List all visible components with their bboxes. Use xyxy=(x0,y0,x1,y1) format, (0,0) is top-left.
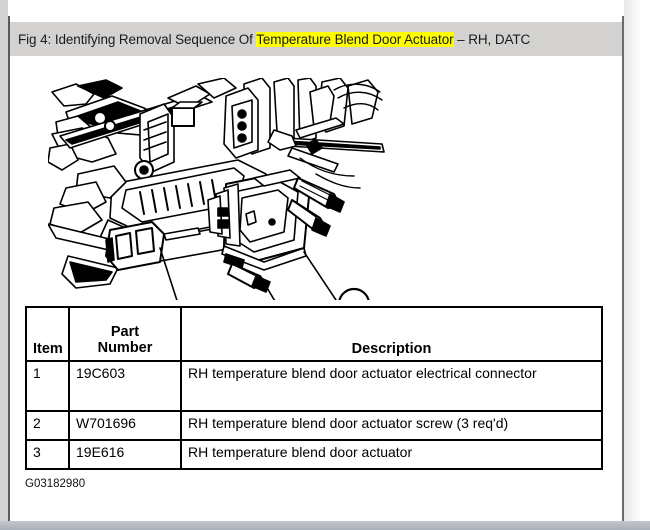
window-right-fade xyxy=(624,0,650,521)
column-header-part-line1: Part xyxy=(111,324,139,340)
cell-item: 1 xyxy=(26,361,69,411)
window-right-border xyxy=(622,16,624,521)
table-header-row: Item Part Number Description xyxy=(26,307,602,361)
callout-3: 3 xyxy=(339,289,369,300)
cell-item: 2 xyxy=(26,411,69,440)
window-left-gutter xyxy=(0,0,8,521)
cell-part-number: 19C603 xyxy=(69,361,181,411)
cell-description: RH temperature blend door actuator screw… xyxy=(181,411,602,440)
table-row: 1 19C603 RH temperature blend door actua… xyxy=(26,361,602,411)
screenshot-root: Fig 4: Identifying Removal Sequence Of T… xyxy=(0,0,650,530)
cell-part-number: 19E616 xyxy=(69,440,181,469)
window-top-gutter xyxy=(0,0,650,16)
document-viewport[interactable]: Fig 4: Identifying Removal Sequence Of T… xyxy=(10,16,622,521)
figure-id-label: G03182980 xyxy=(25,478,85,490)
column-header-part-line2: Number xyxy=(98,340,153,356)
cell-description: RH temperature blend door actuator xyxy=(181,440,602,469)
caption-highlight: Temperature Blend Door Actuator xyxy=(256,32,453,47)
callout-3-label: 3 xyxy=(350,297,358,300)
window-bottom-bar[interactable] xyxy=(0,521,650,530)
cell-part-number: W701696 xyxy=(69,411,181,440)
caption-suffix: – RH, DATC xyxy=(454,32,531,47)
figure-caption-bar: Fig 4: Identifying Removal Sequence Of T… xyxy=(10,22,622,56)
column-header-part-number: Part Number xyxy=(69,307,181,361)
technical-line-drawing: 1 2 3 xyxy=(48,78,388,300)
caption-prefix: Fig 4: Identifying Removal Sequence Of xyxy=(18,32,256,47)
figure-caption: Fig 4: Identifying Removal Sequence Of T… xyxy=(10,32,530,47)
cell-item: 3 xyxy=(26,440,69,469)
cell-description: RH temperature blend door actuator elect… xyxy=(181,361,602,411)
column-header-item: Item xyxy=(26,307,69,361)
figure-area: 1 2 3 xyxy=(10,56,622,311)
table-row: 3 19E616 RH temperature blend door actua… xyxy=(26,440,602,469)
parts-table: Item Part Number Description 1 19C603 RH… xyxy=(25,306,603,470)
column-header-description: Description xyxy=(181,307,602,361)
table-row: 2 W701696 RH temperature blend door actu… xyxy=(26,411,602,440)
